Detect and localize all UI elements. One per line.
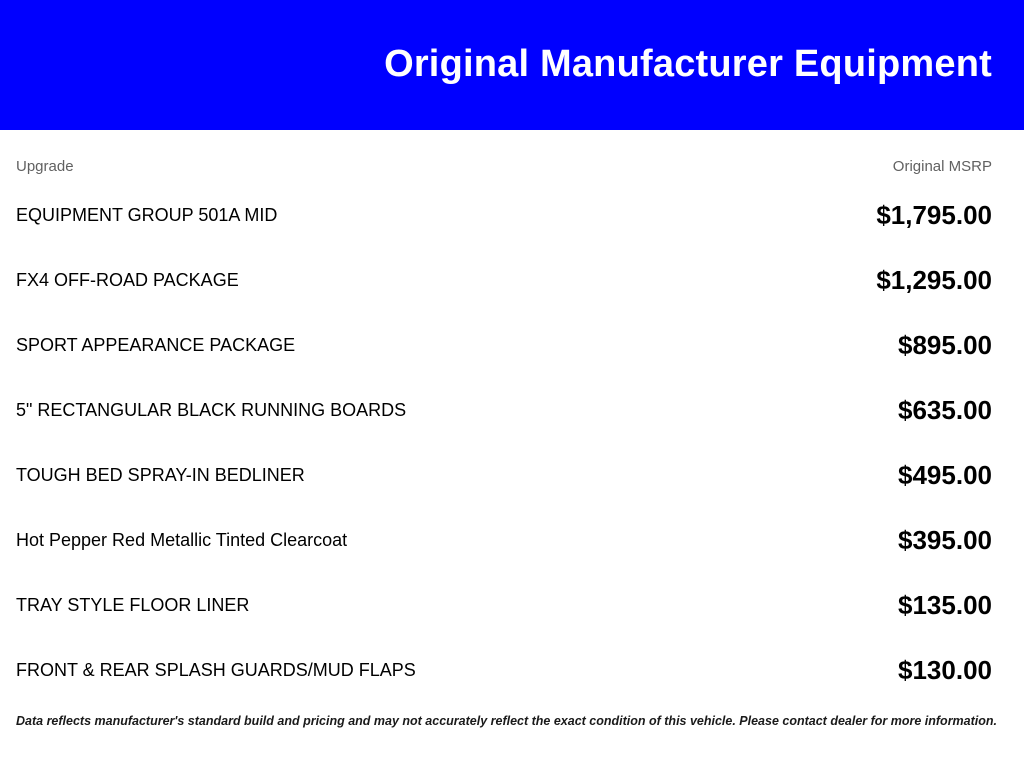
equipment-name: TOUGH BED SPRAY-IN BEDLINER: [16, 443, 621, 508]
table-row: TRAY STYLE FLOOR LINER$135.00: [16, 573, 992, 638]
equipment-name: FRONT & REAR SPLASH GUARDS/MUD FLAPS: [16, 638, 621, 703]
equipment-name: 5" RECTANGULAR BLACK RUNNING BOARDS: [16, 378, 621, 443]
equipment-price: $135.00: [621, 573, 992, 638]
equipment-price: $130.00: [621, 638, 992, 703]
table-header: Upgrade Original MSRP: [16, 130, 992, 183]
table-row: 5" RECTANGULAR BLACK RUNNING BOARDS$635.…: [16, 378, 992, 443]
equipment-page: Original Manufacturer Equipment Upgrade …: [0, 0, 1024, 768]
equipment-content: Upgrade Original MSRP EQUIPMENT GROUP 50…: [0, 130, 1024, 703]
equipment-name: TRAY STYLE FLOOR LINER: [16, 573, 621, 638]
equipment-price: $1,795.00: [621, 183, 992, 248]
page-title: Original Manufacturer Equipment: [384, 44, 992, 86]
table-row: FRONT & REAR SPLASH GUARDS/MUD FLAPS$130…: [16, 638, 992, 703]
table-row: SPORT APPEARANCE PACKAGE$895.00: [16, 313, 992, 378]
column-header-upgrade: Upgrade: [16, 130, 621, 183]
table-row: EQUIPMENT GROUP 501A MID$1,795.00: [16, 183, 992, 248]
equipment-name: FX4 OFF-ROAD PACKAGE: [16, 248, 621, 313]
table-body: EQUIPMENT GROUP 501A MID$1,795.00FX4 OFF…: [16, 183, 992, 703]
table-row: Hot Pepper Red Metallic Tinted Clearcoat…: [16, 508, 992, 573]
equipment-name: Hot Pepper Red Metallic Tinted Clearcoat: [16, 508, 621, 573]
disclaimer-text: Data reflects manufacturer's standard bu…: [0, 713, 1024, 729]
table-row: TOUGH BED SPRAY-IN BEDLINER$495.00: [16, 443, 992, 508]
equipment-table: Upgrade Original MSRP EQUIPMENT GROUP 50…: [16, 130, 992, 703]
equipment-price: $395.00: [621, 508, 992, 573]
equipment-price: $635.00: [621, 378, 992, 443]
equipment-name: EQUIPMENT GROUP 501A MID: [16, 183, 621, 248]
equipment-price: $895.00: [621, 313, 992, 378]
equipment-name: SPORT APPEARANCE PACKAGE: [16, 313, 621, 378]
table-row: FX4 OFF-ROAD PACKAGE$1,295.00: [16, 248, 992, 313]
equipment-price: $1,295.00: [621, 248, 992, 313]
equipment-price: $495.00: [621, 443, 992, 508]
table-header-row: Upgrade Original MSRP: [16, 130, 992, 183]
page-header-banner: Original Manufacturer Equipment: [0, 0, 1024, 130]
column-header-original-msrp: Original MSRP: [621, 130, 992, 183]
